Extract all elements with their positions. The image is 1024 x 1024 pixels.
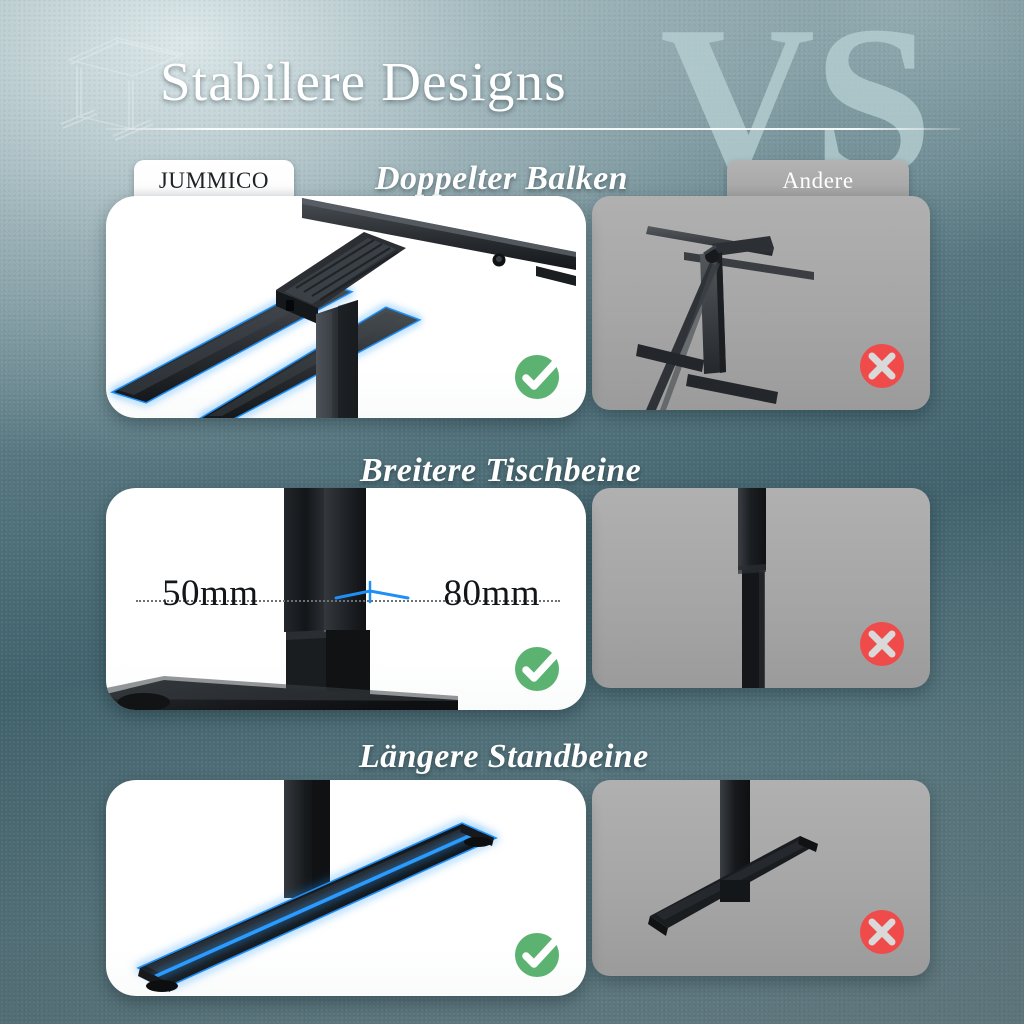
red-cross-icon [856, 340, 908, 392]
section-heading-wider-legs: Breitere Tischbeine [360, 452, 641, 490]
page-title: Stabilere Designs [160, 50, 660, 116]
blue-accent-tick-icon [334, 580, 410, 606]
row3-jummico-panel [106, 780, 586, 996]
row2-andere-panel [592, 488, 930, 688]
green-check-icon [512, 642, 564, 694]
row1-jummico-panel [106, 196, 586, 418]
red-cross-icon [856, 618, 908, 670]
green-check-icon [512, 350, 564, 402]
header-divider [106, 128, 960, 130]
tab-jummico-label: JUMMICO [159, 168, 269, 194]
row2-jummico-panel: 50mm 80mm [106, 488, 586, 710]
green-check-icon [512, 928, 564, 980]
row1-andere-panel [592, 196, 930, 410]
infographic-canvas: VS Stabilere Designs JUMMICO Andere Dopp… [0, 0, 1024, 1024]
row3-andere-panel [592, 780, 930, 976]
section-heading-longer-feet: Längere Standbeine [359, 738, 649, 776]
measure-label-left: 50mm [162, 572, 259, 615]
measure-label-right: 80mm [443, 572, 540, 615]
section-heading-double-beam: Doppelter Balken [375, 160, 628, 198]
red-cross-icon [856, 906, 908, 958]
tab-andere-label: Andere [782, 168, 853, 194]
